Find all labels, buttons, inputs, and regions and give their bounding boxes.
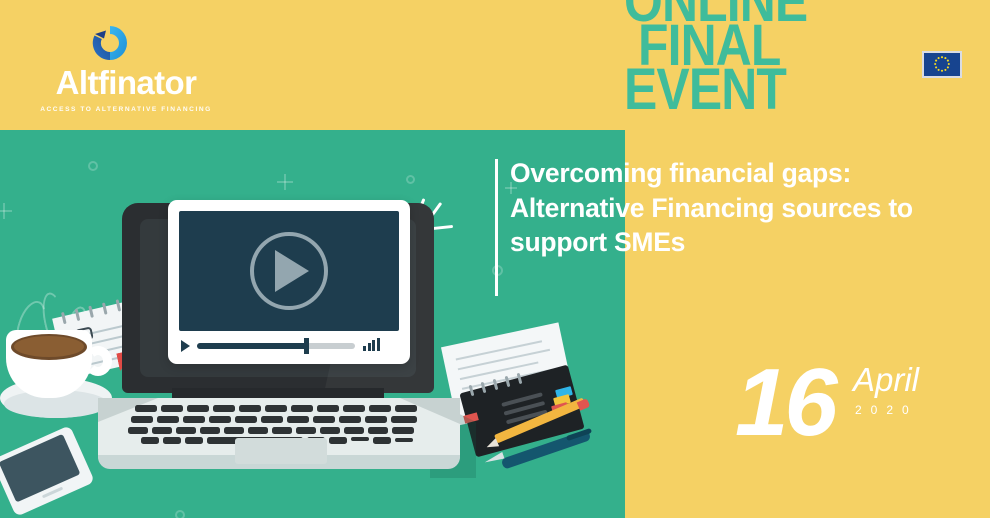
laptop-trackpad xyxy=(235,438,327,464)
play-small-icon[interactable] xyxy=(181,340,190,352)
volume-bars-icon[interactable] xyxy=(363,338,379,351)
altfinator-logo-mark-icon xyxy=(88,22,132,66)
event-date-month: April xyxy=(853,363,919,396)
decorative-circle xyxy=(406,175,415,184)
video-player-icon[interactable] xyxy=(168,200,410,364)
progress-bar-fill xyxy=(197,343,307,349)
decorative-circle xyxy=(492,265,503,276)
headline-accent-bar xyxy=(495,159,498,296)
altfinator-logo: Altfinator ACCESS TO ALTERNATIVE FINANCI… xyxy=(36,22,216,108)
event-header-title: ONLINE FINAL EVENT xyxy=(620,0,920,138)
page-title: Overcoming financial gaps: Alternative F… xyxy=(510,156,940,260)
progress-bar-handle[interactable] xyxy=(304,338,309,354)
play-triangle-icon[interactable] xyxy=(275,250,309,292)
video-screen[interactable] xyxy=(179,211,399,331)
event-banner: Altfinator ACCESS TO ALTERNATIVE FINANCI… xyxy=(0,0,990,518)
decorative-plus xyxy=(277,174,293,190)
event-header-line-event: EVENT xyxy=(624,66,786,114)
event-date-day: 16 xyxy=(735,355,834,451)
altfinator-logo-wordmark: Altfinator xyxy=(36,66,216,99)
coffee-liquid-surface xyxy=(14,336,84,357)
event-date: 16 April 2020 xyxy=(735,355,985,465)
altfinator-logo-tagline: ACCESS TO ALTERNATIVE FINANCING xyxy=(36,106,216,113)
event-date-year: 2020 xyxy=(855,403,918,417)
european-union-flag-icon xyxy=(922,51,962,78)
decorative-circle xyxy=(175,510,185,518)
decorative-circle xyxy=(88,161,98,171)
decorative-plus xyxy=(0,203,12,219)
